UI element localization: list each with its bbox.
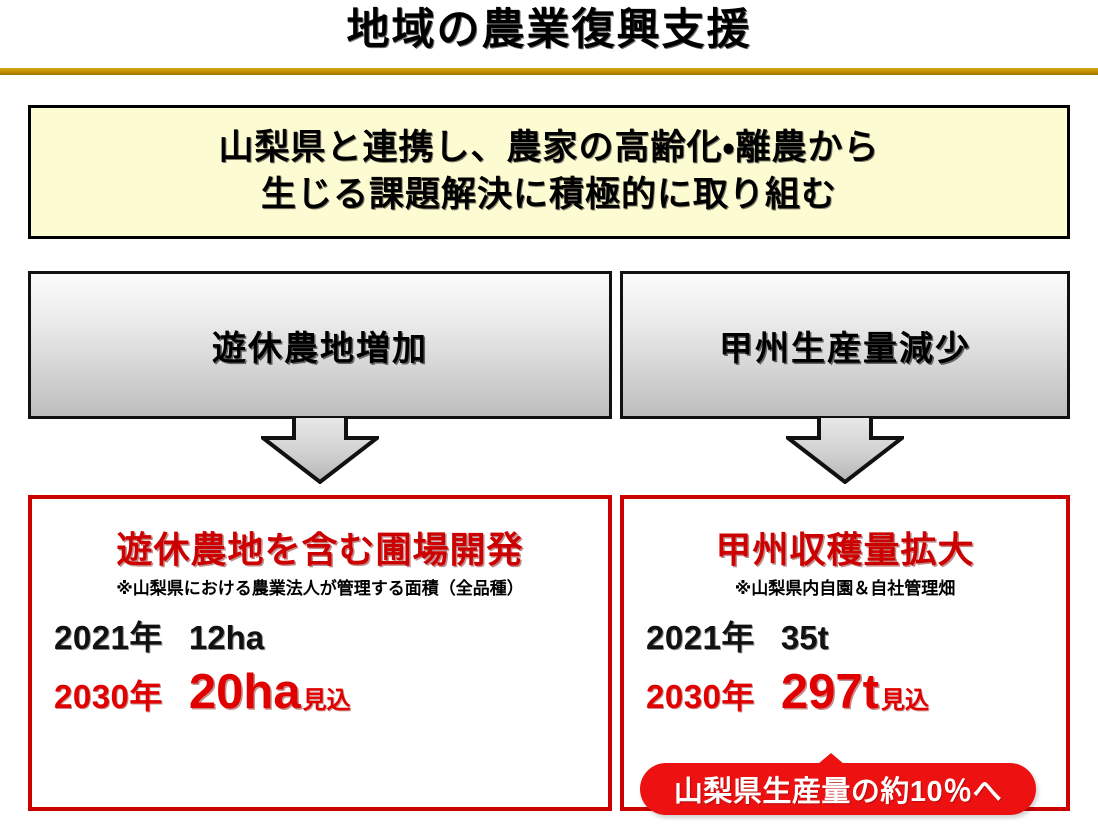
stat-row-future-koshu: 2030年 297t 見込 <box>646 668 929 717</box>
policy-banner-line-1: 山梨県と連携し、農家の高齢化・離農から <box>219 125 880 172</box>
stat-suffix-future-farmland: 見込 <box>303 689 351 713</box>
down-arrow-icon-right <box>786 416 904 484</box>
stat-block-koshu: 2021年 35t 2030年 297t 見込 <box>646 621 929 717</box>
result-box-farmland-development: 遊休農地を含む圃場開発 ※山梨県における農業法人が管理する面積（全品種） 202… <box>28 495 612 811</box>
stat-row-past-farmland: 2021年 12ha <box>54 621 351 654</box>
problem-box-idle-farmland: 遊休農地増加 <box>28 271 612 419</box>
callout-label: 山梨県生産量の約10％へ <box>674 768 1002 810</box>
callout-pill: 山梨県生産量の約10％へ <box>640 763 1036 815</box>
stat-block-farmland: 2021年 12ha 2030年 20ha 見込 <box>54 621 351 717</box>
result-heading-koshu-harvest: 甲州収穫量拡大 <box>624 521 1066 573</box>
result-note-farmland-development: ※山梨県における農業法人が管理する面積（全品種） <box>32 574 608 599</box>
result-note-koshu-harvest: ※山梨県内自園＆自社管理畑 <box>624 574 1066 599</box>
policy-banner: 山梨県と連携し、農家の高齢化・離農から 生じる課題解決に積極的に取り組む <box>28 105 1070 239</box>
callout-target-share: 山梨県生産量の約10％へ <box>640 753 1036 815</box>
title-divider-rule <box>0 68 1098 75</box>
problem-label-idle-farmland: 遊休農地増加 <box>212 321 428 370</box>
stat-year-future-farmland: 2030年 <box>54 680 163 713</box>
stat-row-past-koshu: 2021年 35t <box>646 621 929 654</box>
stat-year-past-koshu: 2021年 <box>646 621 755 654</box>
policy-banner-line-2: 生じる課題解決に積極的に取り組む <box>261 172 837 219</box>
problem-label-koshu-production: 甲州生産量減少 <box>719 321 971 370</box>
stat-value-future-koshu: 297t <box>781 668 879 717</box>
problem-box-koshu-production: 甲州生産量減少 <box>620 271 1070 419</box>
stat-year-past-farmland: 2021年 <box>54 621 163 654</box>
stat-value-past-farmland: 12ha <box>189 621 264 654</box>
stat-value-future-farmland: 20ha <box>189 668 301 717</box>
result-heading-farmland-development: 遊休農地を含む圃場開発 <box>32 521 608 573</box>
stat-row-future-farmland: 2030年 20ha 見込 <box>54 668 351 717</box>
stat-value-past-koshu: 35t <box>781 621 829 654</box>
stat-year-future-koshu: 2030年 <box>646 680 755 713</box>
down-arrow-icon-left <box>261 416 379 484</box>
page-title: 地域の農業復興支援 <box>0 6 1098 55</box>
stat-suffix-future-koshu: 見込 <box>881 689 929 713</box>
